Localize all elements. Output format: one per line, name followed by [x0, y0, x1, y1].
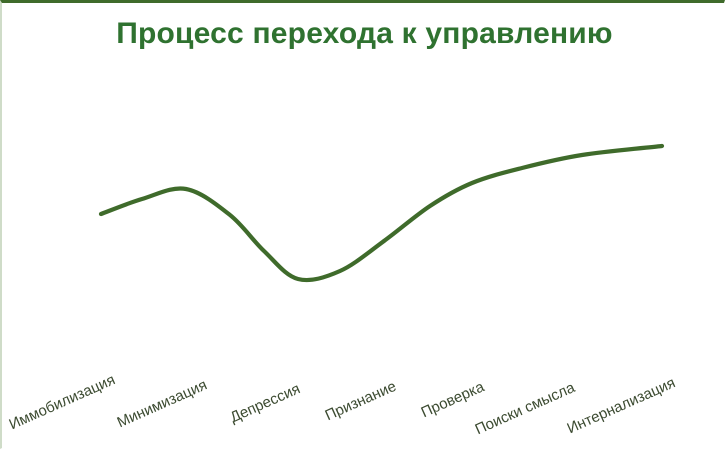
- chart-canvas: Процесс перехода к управлению Иммобилиза…: [0, 0, 725, 449]
- trend-line-curve: [101, 146, 662, 280]
